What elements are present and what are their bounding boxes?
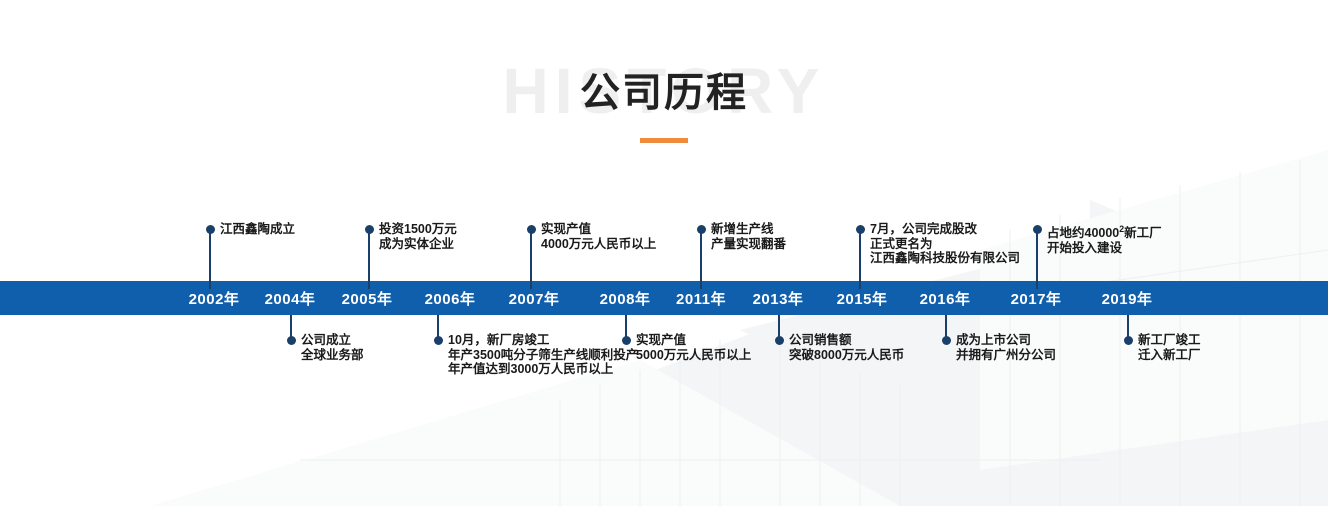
- timeline-year-2013年[interactable]: 2013年: [753, 288, 804, 309]
- event-dot-marker: [527, 225, 536, 234]
- event-dot-marker: [775, 336, 784, 345]
- event-dot-marker: [434, 336, 443, 345]
- event-description-line: 占地约400002新工厂: [1047, 222, 1162, 241]
- event-description: 公司销售额突破8000万元人民币: [789, 333, 904, 362]
- event-description-line: 正式更名为: [870, 237, 1020, 252]
- event-dot-marker: [287, 336, 296, 345]
- event-description-line: 公司成立: [301, 333, 364, 348]
- event-description: 新增生产线产量实现翻番: [711, 222, 786, 251]
- timeline: 2002年2004年2005年2006年2007年2008年2011年2013年…: [0, 0, 1328, 506]
- event-description-line: 成为上市公司: [956, 333, 1056, 348]
- event-description-line: 实现产值: [541, 222, 656, 237]
- timeline-year-2015年[interactable]: 2015年: [837, 288, 888, 309]
- event-dot-marker: [206, 225, 215, 234]
- event-connector-line: [209, 229, 211, 289]
- event-description-line: 公司销售额: [789, 333, 904, 348]
- timeline-year-2007年[interactable]: 2007年: [509, 288, 560, 309]
- event-description-line: 新增生产线: [711, 222, 786, 237]
- event-description-line: 产量实现翻番: [711, 237, 786, 252]
- event-description-line: 实现产值: [636, 333, 751, 348]
- event-description: 实现产值4000万元人民币以上: [541, 222, 656, 251]
- event-description-line: 5000万元人民币以上: [636, 348, 751, 363]
- event-dot-marker: [622, 336, 631, 345]
- timeline-year-2019年[interactable]: 2019年: [1102, 288, 1153, 309]
- timeline-year-2016年[interactable]: 2016年: [920, 288, 971, 309]
- event-description: 实现产值5000万元人民币以上: [636, 333, 751, 362]
- event-connector-line: [859, 229, 861, 289]
- event-description-line: 全球业务部: [301, 348, 364, 363]
- event-description-line: 新工厂竣工: [1138, 333, 1201, 348]
- event-description-line: 年产3500吨分子筛生产线顺利投产: [448, 348, 638, 363]
- event-description-line: 突破8000万元人民币: [789, 348, 904, 363]
- timeline-year-2002年[interactable]: 2002年: [189, 288, 240, 309]
- event-description-line: 江西鑫陶科技股份有限公司: [870, 251, 1020, 266]
- event-description: 成为上市公司并拥有广州分公司: [956, 333, 1056, 362]
- event-connector-line: [530, 229, 532, 289]
- event-dot-marker: [697, 225, 706, 234]
- event-description: 占地约400002新工厂开始投入建设: [1047, 222, 1162, 255]
- event-description: 10月，新厂房竣工年产3500吨分子筛生产线顺利投产年产值达到3000万人民币以…: [448, 333, 638, 377]
- event-description: 新工厂竣工迁入新工厂: [1138, 333, 1201, 362]
- event-description: 公司成立全球业务部: [301, 333, 364, 362]
- event-description: 江西鑫陶成立: [220, 222, 295, 237]
- event-description-line: 并拥有广州分公司: [956, 348, 1056, 363]
- timeline-year-2005年[interactable]: 2005年: [342, 288, 393, 309]
- event-dot-marker: [1033, 225, 1042, 234]
- history-timeline-page: HISTORY 公司历程 2002年2004年2005年2006年2007年20…: [0, 0, 1328, 506]
- timeline-year-2004年[interactable]: 2004年: [265, 288, 316, 309]
- timeline-year-2011年[interactable]: 2011年: [676, 288, 726, 309]
- event-dot-marker: [365, 225, 374, 234]
- event-description: 投资1500万元成为实体企业: [379, 222, 457, 251]
- event-description-line: 4000万元人民币以上: [541, 237, 656, 252]
- event-description-line: 投资1500万元: [379, 222, 457, 237]
- superscript-two: 2: [1119, 224, 1124, 234]
- event-description-line: 7月，公司完成股改: [870, 222, 1020, 237]
- event-description-line: 成为实体企业: [379, 237, 457, 252]
- event-description-line: 10月，新厂房竣工: [448, 333, 638, 348]
- event-description-line: 年产值达到3000万人民币以上: [448, 362, 638, 377]
- event-dot-marker: [1124, 336, 1133, 345]
- timeline-year-2008年[interactable]: 2008年: [600, 288, 651, 309]
- timeline-year-2006年[interactable]: 2006年: [425, 288, 476, 309]
- event-connector-line: [368, 229, 370, 289]
- timeline-year-2017年[interactable]: 2017年: [1011, 288, 1062, 309]
- event-dot-marker: [856, 225, 865, 234]
- event-description-line: 江西鑫陶成立: [220, 222, 295, 237]
- event-dot-marker: [942, 336, 951, 345]
- event-connector-line: [1036, 229, 1038, 289]
- event-description: 7月，公司完成股改正式更名为江西鑫陶科技股份有限公司: [870, 222, 1020, 266]
- event-description-line: 迁入新工厂: [1138, 348, 1201, 363]
- event-connector-line: [700, 229, 702, 289]
- event-description-line: 开始投入建设: [1047, 241, 1162, 256]
